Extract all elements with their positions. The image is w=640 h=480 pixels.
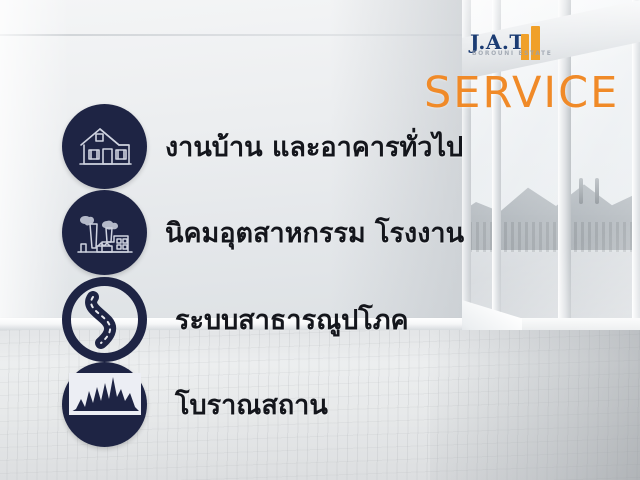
factory-icon bbox=[62, 190, 147, 275]
list-item[interactable]: โบราณสถาน bbox=[62, 362, 328, 447]
temple-icon bbox=[62, 362, 147, 447]
winding-road-icon bbox=[62, 277, 147, 362]
service-list: งานบ้าน และอาคารทั่วไป bbox=[0, 0, 640, 480]
list-item-label: ระบบสาธารณูปโภค bbox=[175, 298, 409, 341]
house-icon bbox=[62, 104, 147, 189]
list-item[interactable]: งานบ้าน และอาคารทั่วไป bbox=[62, 104, 463, 189]
list-item-label: งานบ้าน และอาคารทั่วไป bbox=[165, 125, 463, 168]
list-item[interactable]: นิคมอุตสาหกรรม โรงงาน bbox=[62, 190, 464, 275]
list-item[interactable]: ระบบสาธารณูปโภค bbox=[62, 277, 409, 362]
list-item-label: โบราณสถาน bbox=[175, 383, 328, 426]
banner-canvas: J.A.T. BOROUNI ESTATE SERVICE bbox=[0, 0, 640, 480]
list-item-label: นิคมอุตสาหกรรม โรงงาน bbox=[165, 211, 464, 254]
